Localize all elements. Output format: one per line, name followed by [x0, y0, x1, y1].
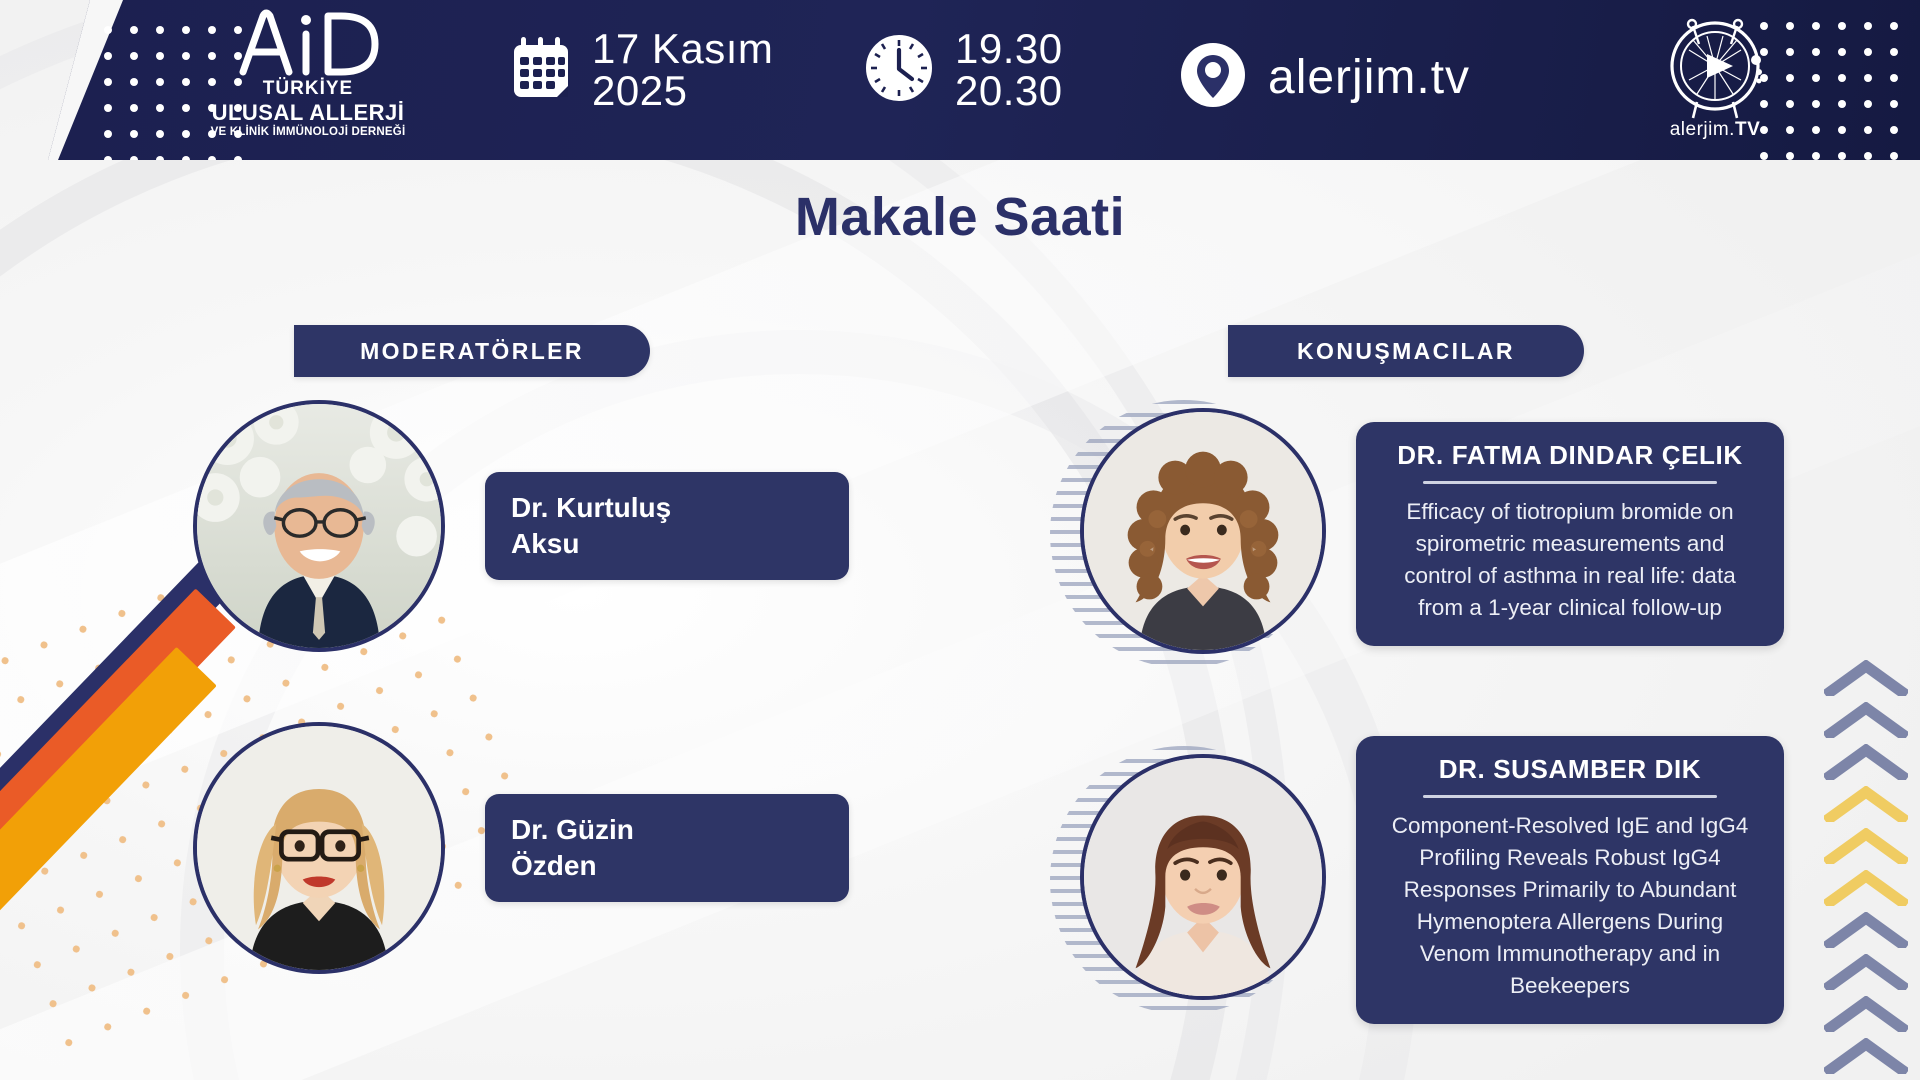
- clock-icon: [863, 32, 935, 109]
- chevron-icon: [1824, 996, 1908, 1032]
- event-location[interactable]: alerjim.tv: [1178, 40, 1470, 115]
- speaker-name: DR. FATMA DINDAR ÇELIK: [1382, 440, 1758, 481]
- chevron-icon: [1824, 828, 1908, 864]
- chevron-icon: [1824, 912, 1908, 948]
- calendar-icon: [510, 35, 572, 106]
- association-line1: TÜRKİYE: [263, 78, 353, 100]
- event-date-line1: 17 Kasım: [592, 25, 773, 72]
- moderator-avatar: [193, 400, 445, 652]
- tv-name-bold: TV: [1735, 119, 1760, 140]
- chevron-pattern: [1824, 660, 1908, 1080]
- chevron-icon: [1824, 660, 1908, 696]
- speaker-avatar: [1080, 408, 1326, 654]
- moderator-name-card: Dr. Güzin Özden: [485, 794, 849, 902]
- event-date-line2: 2025: [592, 70, 773, 112]
- moderator-name-line2: Özden: [511, 848, 823, 884]
- moderator-avatar: [193, 722, 445, 974]
- speaker-item: DR. SUSAMBER DIK Component-Resolved IgE …: [1050, 736, 1784, 1024]
- chevron-icon: [1824, 1038, 1908, 1074]
- speaker-topic: Component-Resolved IgE and IgG4 Profilin…: [1382, 810, 1758, 1002]
- alerjim-tv-logo-icon: [1649, 10, 1781, 127]
- moderator-item: Dr. Kurtuluş Aksu: [193, 400, 849, 652]
- chevron-icon: [1824, 702, 1908, 738]
- alerjim-tv-logo: alerjim.TV: [1640, 10, 1790, 150]
- speaker-item: DR. FATMA DINDAR ÇELIK Efficacy of tiotr…: [1050, 400, 1784, 668]
- speaker-name: DR. SUSAMBER DIK: [1382, 754, 1758, 795]
- moderator-item: Dr. Güzin Özden: [193, 722, 849, 974]
- aid-monogram-icon: [233, 8, 383, 76]
- moderators-section-label: MODERATÖRLER: [294, 325, 650, 377]
- moderator-name-line2: Aksu: [511, 526, 823, 562]
- speaker-avatar: [1080, 754, 1326, 1000]
- moderator-name-card: Dr. Kurtuluş Aksu: [485, 472, 849, 580]
- speaker-avatar-wrap: [1050, 746, 1318, 1014]
- association-logo: TÜRKİYE ULUSAL ALLERJİ VE KLİNİK İMMÜNOL…: [178, 8, 438, 148]
- speaker-card: DR. SUSAMBER DIK Component-Resolved IgE …: [1356, 736, 1784, 1024]
- speaker-avatar-wrap: [1050, 400, 1318, 668]
- chevron-icon: [1824, 744, 1908, 780]
- alerjim-tv-wordmark: alerjim.TV: [1670, 119, 1761, 141]
- speaker-divider: [1423, 795, 1716, 798]
- tv-name-light: alerjim.: [1670, 119, 1735, 140]
- chevron-icon: [1824, 870, 1908, 906]
- page-title: Makale Saati: [0, 186, 1920, 248]
- event-time-line2: 20.30: [955, 70, 1063, 112]
- map-pin-icon: [1178, 40, 1248, 115]
- speaker-divider: [1423, 481, 1716, 484]
- chevron-icon: [1824, 786, 1908, 822]
- association-line3: VE KLİNİK İMMÜNOLOJİ DERNEĞİ: [211, 126, 406, 138]
- event-time-text: 19.30 20.30: [955, 28, 1063, 112]
- speaker-card: DR. FATMA DINDAR ÇELIK Efficacy of tiotr…: [1356, 422, 1784, 646]
- speaker-topic: Efficacy of tiotropium bromide on spirom…: [1382, 496, 1758, 624]
- event-date: 17 Kasım 2025: [510, 28, 773, 112]
- header-bar: TÜRKİYE ULUSAL ALLERJİ VE KLİNİK İMMÜNOL…: [48, 0, 1920, 160]
- event-time: 19.30 20.30: [863, 28, 1063, 112]
- association-line2: ULUSAL ALLERJİ: [212, 100, 405, 126]
- event-date-text: 17 Kasım 2025: [592, 28, 773, 112]
- chevron-icon: [1824, 954, 1908, 990]
- poster-canvas: TÜRKİYE ULUSAL ALLERJİ VE KLİNİK İMMÜNOL…: [0, 0, 1920, 1080]
- event-location-url: alerjim.tv: [1268, 50, 1470, 105]
- event-time-line1: 19.30: [955, 25, 1063, 72]
- moderator-name-line1: Dr. Güzin: [511, 812, 823, 848]
- moderator-name-line1: Dr. Kurtuluş: [511, 490, 823, 526]
- speakers-section-label: KONUŞMACILAR: [1228, 325, 1584, 377]
